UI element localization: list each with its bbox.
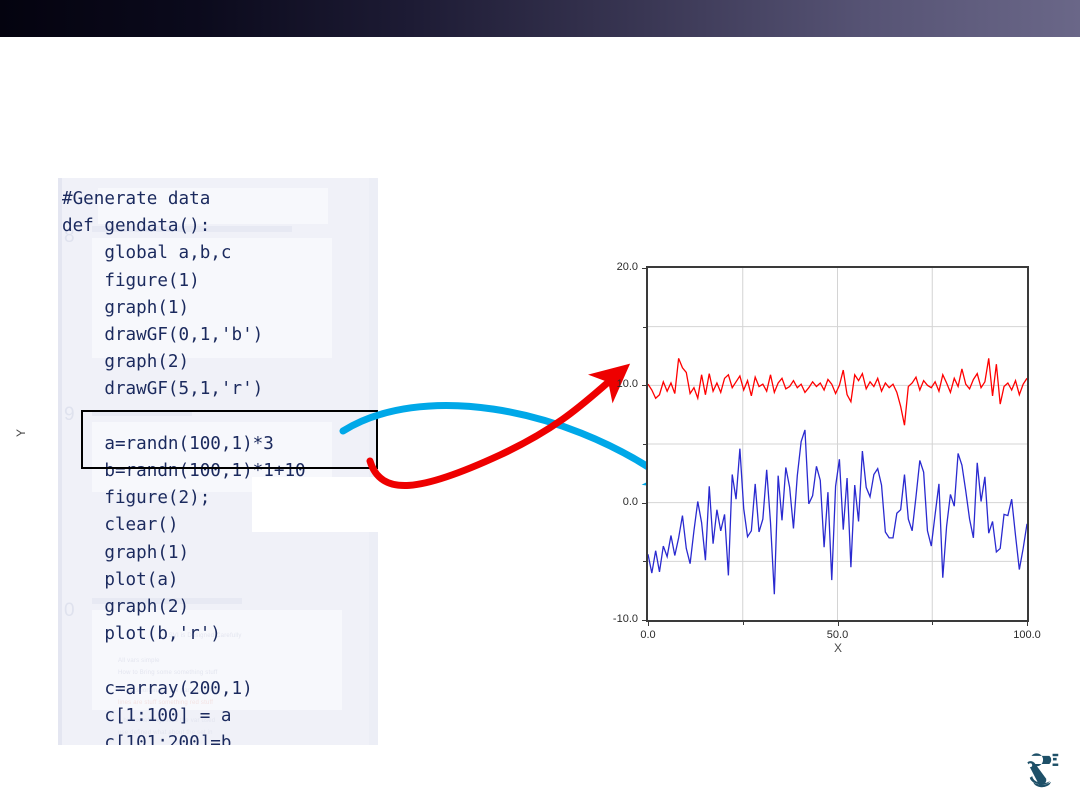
slide-top-banner — [0, 0, 1080, 37]
x-axis-minor-tick — [932, 620, 933, 625]
code-line: clear() — [62, 512, 179, 539]
code-line: c[1:100] = a — [62, 703, 231, 730]
plot-canvas — [648, 268, 1027, 620]
plot-frame — [646, 266, 1029, 622]
code-line: graph(1) — [62, 295, 189, 322]
code-line: graph(2) — [62, 349, 189, 376]
code-line: #Generate data — [62, 186, 210, 213]
white-overlay-mask — [252, 477, 380, 532]
y-axis-tick — [642, 268, 648, 269]
code-line: plot(b,'r') — [62, 621, 221, 648]
code-line: drawGF(0,1,'b') — [62, 322, 263, 349]
x-axis-tick — [838, 620, 839, 626]
y-axis-tick-label: 10.0 — [600, 378, 638, 390]
y-axis-tick-label: 0.0 — [600, 496, 638, 508]
robot-arm-logo — [1016, 742, 1068, 794]
y-axis-tick — [642, 503, 648, 504]
y-axis-minor-tick — [643, 327, 648, 328]
plot-figure: -10.00.010.020.0 0.050.0100.0 — [600, 250, 1050, 665]
y-axis-title: Y — [14, 429, 28, 437]
x-axis-tick-label: 100.0 — [1007, 629, 1047, 641]
code-line: graph(1) — [62, 540, 189, 567]
code-line: plot(a) — [62, 567, 179, 594]
code-line: c[101:200]=b — [62, 730, 231, 745]
x-axis-tick-label: 50.0 — [818, 629, 858, 641]
red-arrow — [370, 379, 612, 486]
code-line: graph(2) — [62, 594, 189, 621]
randn-lines-highlight-box — [81, 410, 378, 469]
x-axis-title: X — [834, 641, 842, 655]
code-line: global a,b,c — [62, 240, 231, 267]
y-axis-tick-label: 20.0 — [600, 261, 638, 273]
code-line: drawGF(5,1,'r') — [62, 376, 263, 403]
code-line: figure(1) — [62, 268, 200, 295]
code-line: c=array(200,1) — [62, 676, 253, 703]
x-axis-tick — [648, 620, 649, 626]
y-axis-minor-tick — [643, 444, 648, 445]
x-axis-tick — [1027, 620, 1028, 626]
code-line: def gendata(): — [62, 213, 210, 240]
x-axis-minor-tick — [743, 620, 744, 625]
code-line: figure(2); — [62, 485, 210, 512]
y-axis-tick — [642, 385, 648, 386]
y-axis-minor-tick — [643, 561, 648, 562]
x-axis-tick-label: 0.0 — [628, 629, 668, 641]
y-axis-tick-label: -10.0 — [600, 613, 638, 625]
